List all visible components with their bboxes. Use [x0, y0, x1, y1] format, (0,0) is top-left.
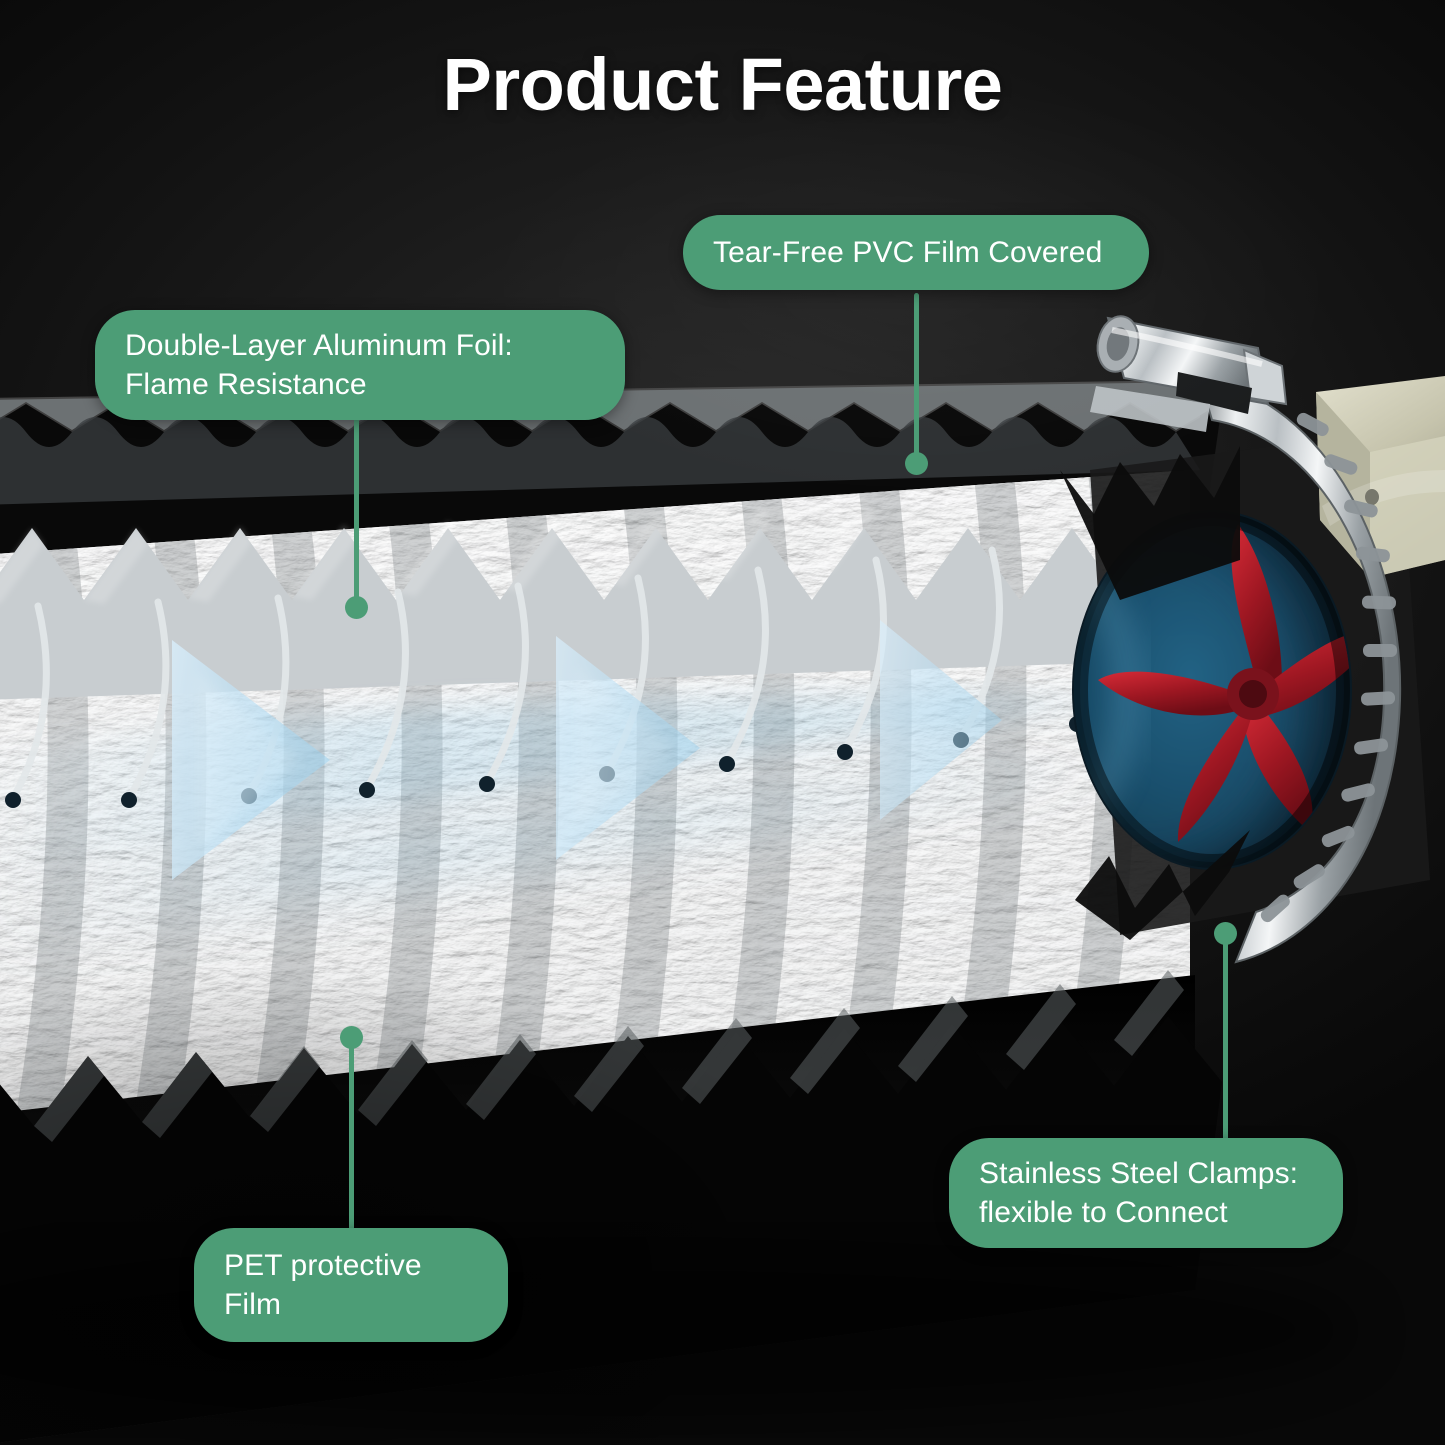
leader-line-pvc [914, 293, 919, 467]
leader-line-pet [349, 1040, 354, 1230]
leader-dot-foil [345, 596, 368, 619]
page-title: Product Feature [0, 46, 1445, 124]
leader-line-clamp [1223, 935, 1228, 1141]
leader-dot-pet [340, 1026, 363, 1049]
label-double-layer-aluminum-foil[interactable]: Double-Layer Aluminum Foil: Flame Resist… [95, 310, 625, 420]
leader-dot-clamp [1214, 922, 1237, 945]
label-pet-protective-film[interactable]: PET protective Film [194, 1228, 508, 1342]
leader-dot-pvc [905, 452, 928, 475]
leader-line-foil [354, 388, 359, 610]
label-tear-free-pvc-film[interactable]: Tear-Free PVC Film Covered [683, 215, 1149, 290]
product-feature-infographic: 0 [0, 0, 1445, 1445]
label-stainless-steel-clamps[interactable]: Stainless Steel Clamps: flexible to Conn… [949, 1138, 1343, 1248]
